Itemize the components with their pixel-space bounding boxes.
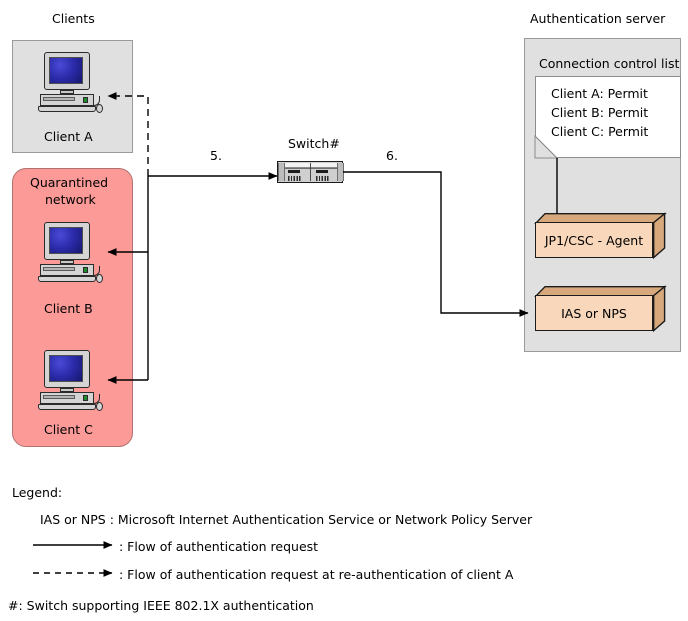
legend-solid-arrow-text: : Flow of authentication request (119, 539, 318, 554)
connector-lines (0, 0, 688, 621)
legend-ias-definition: IAS or NPS : Microsoft Internet Authenti… (40, 512, 532, 527)
legend-dashed-arrow-text: : Flow of authentication request at re-a… (119, 567, 513, 582)
arrow-to-ias (343, 172, 528, 313)
legend-footnote: #: Switch supporting IEEE 802.1X authent… (8, 598, 314, 613)
legend-heading: Legend: (12, 485, 62, 500)
dashed-arrow-to-client-a (108, 96, 148, 176)
